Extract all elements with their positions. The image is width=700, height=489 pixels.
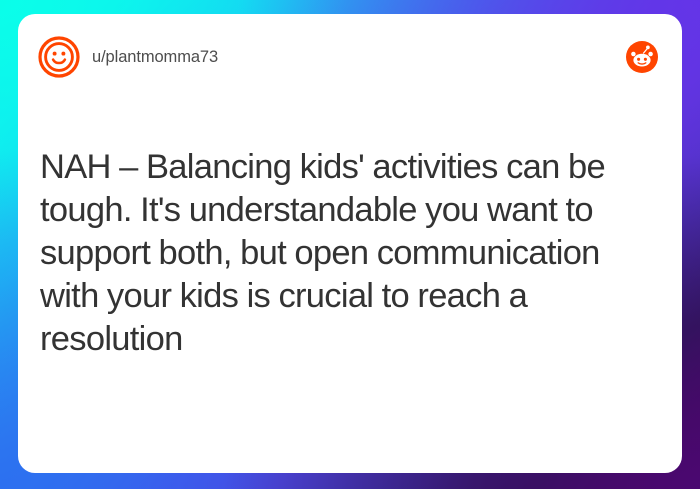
username-label: u/plantmomma73 [92, 48, 218, 67]
card-header: u/plantmomma73 [18, 14, 682, 100]
screenshot-stage: u/plantmomma73 NAH – Balancing kids' act… [0, 0, 700, 489]
card-body: NAH – Balancing kids' activities can be … [18, 146, 682, 361]
comment-card: u/plantmomma73 NAH – Balancing kids' act… [18, 14, 682, 473]
comment-text: NAH – Balancing kids' activities can be … [40, 146, 660, 361]
smiley-face-avatar-icon [38, 36, 80, 78]
reddit-snoo-icon [626, 41, 658, 73]
